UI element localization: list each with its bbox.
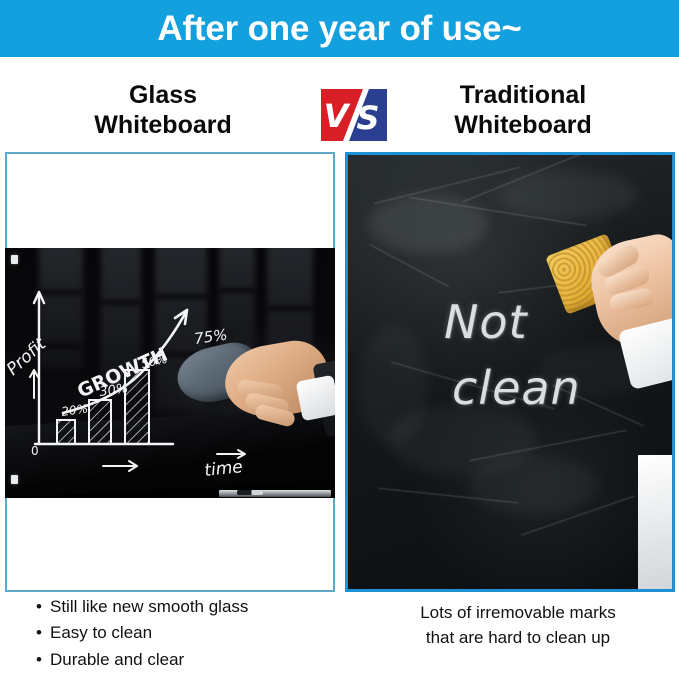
glass-whiteboard-benefits-list: • Still like new smooth glass • Easy to … (36, 594, 336, 673)
chalk-text-clean: clean (452, 361, 581, 415)
hand-with-eraser (173, 334, 335, 464)
glass-whiteboard-panel: Profit GROWTH 20% 30% 50% 75% 0 time (5, 152, 335, 592)
list-item-label: Durable and clear (50, 647, 184, 673)
vs-letter-v: V (324, 97, 351, 135)
list-item-label: Still like new smooth glass (50, 594, 248, 620)
bullet-icon: • (36, 594, 50, 620)
marker-pen (237, 490, 263, 495)
traditional-whiteboard-panel: Not clean (345, 152, 675, 592)
traditional-whiteboard-caption: Lots of irremovable marks that are hard … (375, 601, 661, 650)
heading-glass-line2: Whiteboard (18, 111, 308, 141)
header-banner: After one year of use~ (0, 0, 679, 57)
shirt-body (638, 455, 675, 592)
caption-right-line2: that are hard to clean up (375, 626, 661, 651)
caption-right-line1: Lots of irremovable marks (375, 601, 661, 626)
heading-glass-whiteboard: Glass Whiteboard (18, 81, 308, 140)
chalkboard-photo: Not clean (348, 155, 672, 589)
bullet-icon: • (36, 647, 50, 673)
shirt-cuff (296, 375, 335, 422)
list-item: • Still like new smooth glass (36, 594, 336, 620)
heading-traditional-whiteboard: Traditional Whiteboard (378, 81, 668, 140)
board-clip-bottom-left (11, 475, 18, 484)
board-clip-top-left (11, 255, 18, 264)
list-item: • Durable and clear (36, 647, 336, 673)
vs-badge-icon: V S (319, 87, 389, 143)
page-title: After one year of use~ (157, 11, 521, 46)
list-item-label: Easy to clean (50, 620, 152, 646)
glass-whiteboard-photo: Profit GROWTH 20% 30% 50% 75% 0 time (5, 248, 335, 498)
vs-letter-s: S (356, 99, 379, 137)
heading-glass-line1: Glass (18, 81, 308, 111)
list-item: • Easy to clean (36, 620, 336, 646)
heading-traditional-line1: Traditional (378, 81, 668, 111)
chalk-text-not: Not (444, 295, 528, 349)
heading-traditional-line2: Whiteboard (378, 111, 668, 141)
bullet-icon: • (36, 620, 50, 646)
chart-bar-label-1: 20% (60, 401, 88, 419)
marker-tray (219, 490, 331, 497)
